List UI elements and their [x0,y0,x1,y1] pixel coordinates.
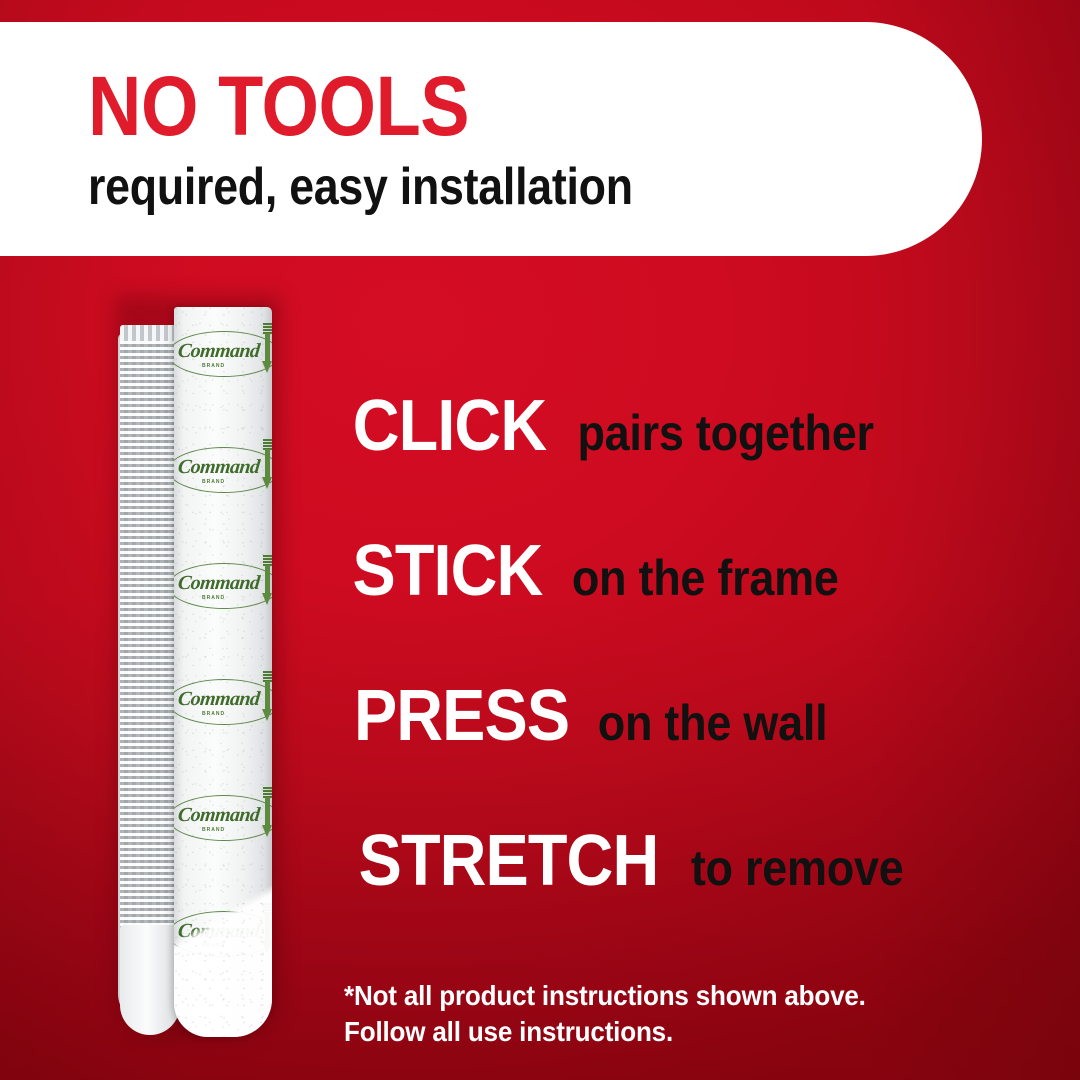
command-brand-logo: Command BRAND [174,679,272,725]
logo-flag-icon [262,439,272,493]
promo-graphic: NO TOOLS required, easy installation Com… [0,0,1080,1080]
logo-flag-icon [262,555,272,609]
logo-flag-icon [262,323,272,377]
strip-back-pull-tab [120,925,180,1035]
step-description: to remove [691,843,904,893]
logo-brand-label: BRAND [202,363,225,369]
instruction-step-list: CLICK pairs together STICK on the frame … [342,390,1042,970]
logo-flag-icon [262,671,272,725]
step-description: on the frame [572,553,839,603]
command-brand-logo: Command BRAND [174,795,272,841]
strip-printed-liner: Command BRAND Command BRAND Command BRAN… [174,307,272,1037]
logo-wordmark: Command [177,572,261,595]
logo-wordmark: Command [177,804,261,827]
logo-brand-label: BRAND [202,711,225,717]
product-image-command-strip-pair: Command BRAND Command BRAND Command BRAN… [108,285,288,1045]
logo-wordmark: Command [177,456,261,479]
instruction-step: CLICK pairs together [342,390,1042,535]
step-description: on the wall [598,698,828,748]
command-brand-logo: Command BRAND [174,331,272,377]
command-brand-logo: Command BRAND [174,563,272,609]
strip-bristle-texture [120,335,178,935]
logo-wordmark: Command [177,340,261,363]
footnote-line-1: *Not all product instructions shown abov… [344,978,958,1014]
footnote-disclaimer: *Not all product instructions shown abov… [344,978,958,1049]
strip-front-pull-tab [174,847,272,1037]
logo-flag-icon [262,787,272,841]
instruction-step: STICK on the frame [342,535,1042,680]
step-description: pairs together [577,408,873,458]
logo-brand-label: BRAND [202,827,225,833]
header-text-group: NO TOOLS required, easy installation [88,66,848,213]
instruction-step: STRETCH to remove [342,825,1042,970]
footnote-line-2: Follow all use instructions. [344,1014,958,1050]
page-title: NO TOOLS [88,66,757,147]
command-brand-logo: Command BRAND [174,447,272,493]
step-verb: PRESS [354,680,569,752]
instruction-step: PRESS on the wall [342,680,1042,825]
step-verb: STICK [353,535,543,607]
header-banner: NO TOOLS required, easy installation [0,22,982,256]
step-verb: CLICK [353,390,546,462]
step-verb: STRETCH [359,825,659,897]
logo-wordmark: Command [177,688,261,711]
logo-brand-label: BRAND [202,595,225,601]
page-subtitle: required, easy installation [88,161,742,213]
logo-brand-label: BRAND [202,479,225,485]
